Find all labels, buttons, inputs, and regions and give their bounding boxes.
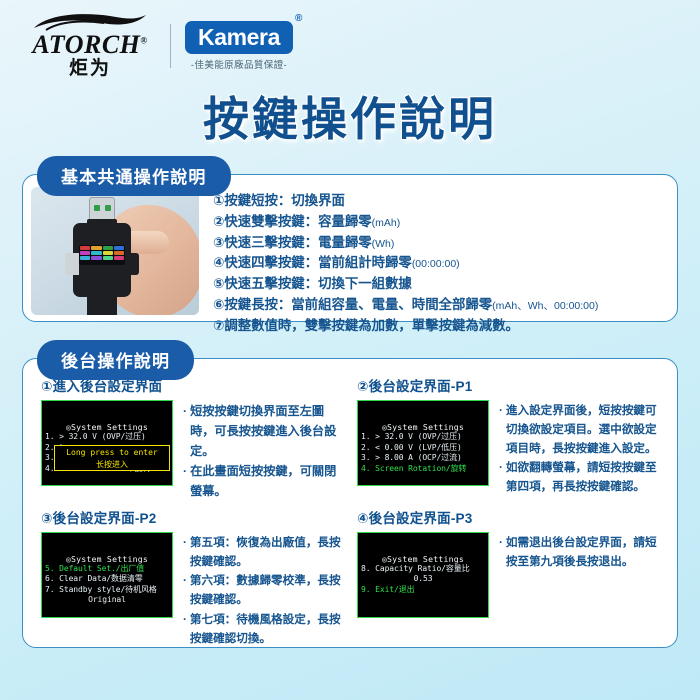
note-item: ·第六項：數據歸零校準，長按按鍵確認。 [183,572,345,610]
advanced-cells-grid: ①進入後台設定界面 ◎System Settings 1. > 32.0 V (… [41,375,661,650]
screen-line-value: Original [45,595,169,606]
list-item: ②快速雙擊按鍵：容量歸零(mAh) [213,212,661,233]
kamera-logo: Kamera ® -佳美能原廠品質保證- [185,21,293,71]
overlay-line-en: Long press to enter [55,447,169,459]
device-screen-p1: ◎System Settings 1. > 32.0 V (OVP/过压) 2.… [357,400,489,486]
device-right-port [127,253,139,275]
basic-panel-tab: 基本共通操作說明 [37,156,231,196]
device-screen-enter-settings: ◎System Settings 1. > 32.0 V (OVP/过压) 2.… [41,400,173,486]
screen-line: 2. < 0.00 V (LVP/低压) [361,443,485,454]
atorch-wordmark: ATORCH® [24,32,156,58]
cell-title: ③後台設定界面-P2 [41,507,345,527]
logo-divider [170,24,171,68]
advanced-cell-4: ④後台設定界面-P3 ◎System Settings 8. Capacity … [357,507,661,650]
page-header: ATORCH® 炬为 Kamera ® -佳美能原廠品質保證- [0,0,700,92]
kamera-tagline: -佳美能原廠品質保證- [185,57,293,71]
screen-line: 3. > 8.00 A (OCP/过流) [361,453,485,464]
bullet: · [499,534,503,572]
device-screen-p2: ◎System Settings 5. Default Set./出厂值 6. … [41,532,173,618]
screen-line-selected: 9. Exit/退出 [361,585,485,596]
screen-line-selected: 5. Default Set./出厂值 [45,564,169,575]
kamera-registered-mark: ® [295,14,302,25]
long-press-overlay: Long press to enter 长按进入 [54,445,170,471]
cell-title: ②後台設定界面-P1 [357,375,661,395]
note-item: ·第七項：待機風格設定，長按按鍵確認切換。 [183,611,345,649]
screen-header: ◎System Settings [361,554,485,564]
screen-header: ◎System Settings [361,422,485,432]
note-item: ·第五項：恢復為出廠值，長按按鍵確認。 [183,534,345,572]
screen-line: 8. Capacity Ratio/容量比 [361,564,485,575]
advanced-cell-2: ②後台設定界面-P1 ◎System Settings 1. > 32.0 V … [357,375,661,503]
advanced-cell-3: ③後台設定界面-P2 ◎System Settings 5. Default S… [41,507,345,650]
bullet: · [499,402,503,458]
bullet: · [499,459,503,497]
atorch-registered-mark: ® [140,35,147,45]
cell-notes: ·短按按鍵切換界面至左圖時，可長按按鍵進入後台設定。 ·在此畫面短按按鍵，可關閉… [183,400,345,503]
list-item: ③快速三擊按鍵：電量歸零(Wh) [213,233,661,254]
advanced-cell-1: ①進入後台設定界面 ◎System Settings 1. > 32.0 V (… [41,375,345,503]
list-item: ⑦調整數值時，雙擊按鍵為加數，單擊按鍵為減數。 [213,316,661,337]
overlay-line-cn: 长按进入 [55,459,169,471]
list-item: ⑥按鍵長按：當前組容量、電量、時間全部歸零(mAh、Wh、00:00:00) [213,295,661,316]
usb-tester-device [65,197,139,315]
note-item: ·短按按鍵切換界面至左圖時，可長按按鍵進入後台設定。 [183,402,345,461]
note-item: ·進入設定界面後，短按按鍵可切換欲設定項目。選中欲設定項目時，長按按鍵進入設定。 [499,402,661,458]
basic-operations-list: ①按鍵短按：切換界面 ②快速雙擊按鍵：容量歸零(mAh) ③快速三擊按鍵：電量歸… [199,187,667,315]
screen-line: 7. Standby style/待机风格 [45,585,169,596]
device-left-port [65,253,79,275]
screen-line: 6. Clear Data/数据清零 [45,574,169,585]
screen-line-selected: 4. Screen Rotation/旋转 [361,464,485,475]
list-item: ①按鍵短按：切換界面 [213,191,661,212]
advanced-panel-tab: 後台操作說明 [37,340,194,380]
cell-notes: ·第五項：恢復為出廠值，長按按鍵確認。 ·第六項：數據歸零校準，長按按鍵確認。 … [183,532,345,650]
advanced-operations-panel: 後台操作說明 ①進入後台設定界面 ◎System Settings 1. > 3… [22,358,678,648]
note-item: ·如欲翻轉螢幕，請短按按鍵至第四項，再長按按鍵確認。 [499,459,661,497]
bullet: · [183,402,187,461]
screen-line: 1. > 32.0 V (OVP/过压) [361,432,485,443]
screen-line-value: 0.53 [361,574,485,585]
basic-operations-panel: 基本共通操作說明 [22,174,678,322]
product-photo [31,187,199,315]
list-item: ④快速四擊按鍵：當前組計時歸零(00:00:00) [213,253,661,274]
cell-notes: ·進入設定界面後，短按按鍵可切換欲設定項目。選中欲設定項目時，長按按鍵進入設定。… [499,400,661,498]
atorch-flame-icon [24,12,156,32]
bullet: · [183,462,187,502]
note-item: ·在此畫面短按按鍵，可關閉螢幕。 [183,462,345,502]
page-title: 按鍵操作說明 [0,96,700,142]
screen-header: ◎System Settings [45,554,169,564]
screen-header: ◎System Settings [45,422,169,432]
screen-line: 1. > 32.0 V (OVP/过压) [45,432,169,443]
usb-connector-bottom-icon [87,297,117,315]
bullet: · [183,611,187,649]
device-screen-p3: ◎System Settings 8. Capacity Ratio/容量比 0… [357,532,489,618]
bullet: · [183,572,187,610]
list-item: ⑤快速五擊按鍵：切換下一組數據 [213,274,661,295]
atorch-chinese-name: 炬为 [24,59,156,80]
note-item: ·如需退出後台設定界面，請短按至第九項後長按退出。 [499,534,661,572]
brand-logos: ATORCH® 炬为 Kamera ® -佳美能原廠品質保證- [24,12,293,80]
device-screen [79,245,125,265]
bullet: · [183,534,187,572]
cell-title: ④後台設定界面-P3 [357,507,661,527]
atorch-logo: ATORCH® 炬为 [24,12,156,80]
kamera-wordmark: Kamera ® [185,21,293,54]
cell-notes: ·如需退出後台設定界面，請短按至第九項後長按退出。 [499,532,661,618]
